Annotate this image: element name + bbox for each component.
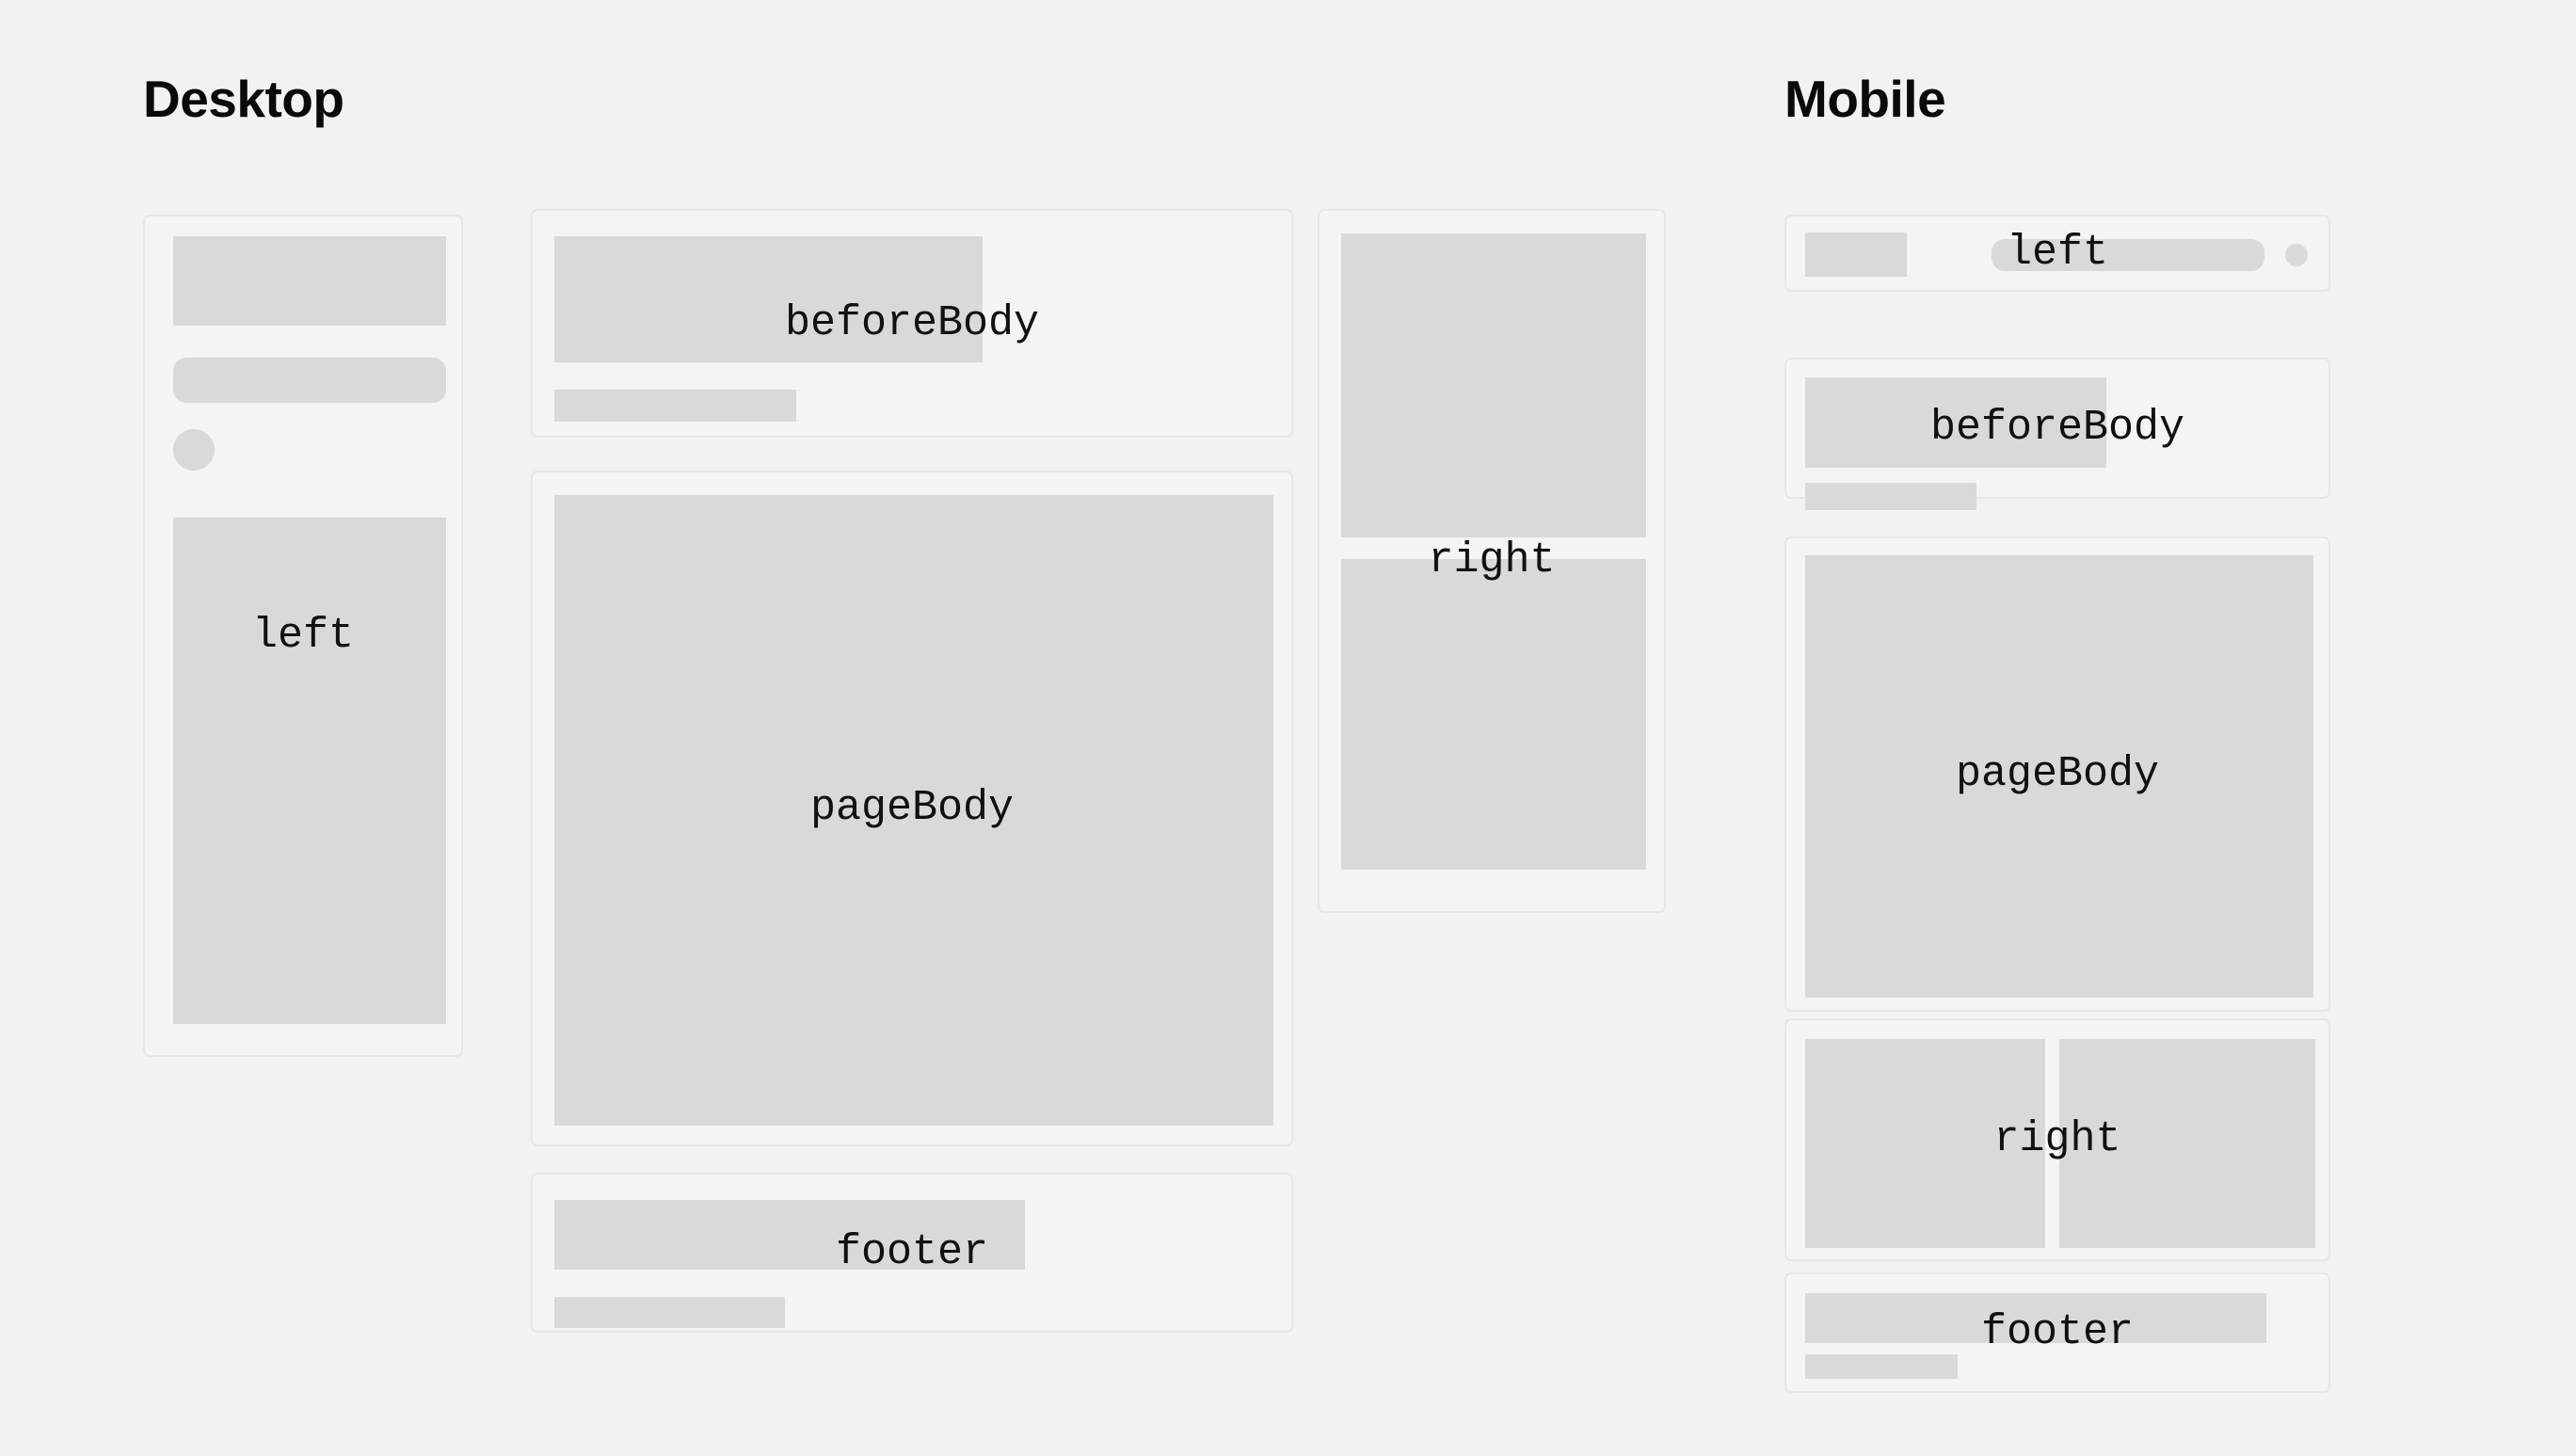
mobile-panel-footer[interactable] <box>1784 1272 2330 1393</box>
section-title-mobile: Mobile <box>1784 73 1945 125</box>
mobile-footer-bar <box>1805 1354 1958 1379</box>
mobile-pagebody-main-rect <box>1805 555 2313 998</box>
desktop-pagebody-main-rect <box>554 495 1273 1126</box>
mobile-footer-rect <box>1805 1293 2266 1343</box>
desktop-left-content-block <box>173 518 446 1024</box>
mobile-panel-beforebody[interactable] <box>1784 358 2330 499</box>
mobile-panel-left[interactable] <box>1784 215 2330 292</box>
desktop-footer-bar <box>554 1297 785 1328</box>
desktop-footer-rect <box>554 1200 1025 1270</box>
desktop-beforebody-hero-rect <box>554 236 983 362</box>
desktop-panel-left[interactable] <box>143 215 463 1057</box>
mobile-beforebody-hero-rect <box>1805 377 2106 468</box>
desktop-panel-pagebody[interactable] <box>531 471 1293 1146</box>
desktop-panel-right[interactable] <box>1318 209 1666 913</box>
desktop-left-header-rect <box>173 236 446 326</box>
mobile-beforebody-caption-bar <box>1805 483 1976 510</box>
mobile-panel-pagebody[interactable] <box>1784 536 2330 1012</box>
layout-preview-canvas: Desktop left beforeBody pageBody footer … <box>0 0 2576 1456</box>
mobile-left-subtitle-bar <box>1992 239 2264 271</box>
desktop-left-subtitle-bar <box>173 358 446 403</box>
desktop-panel-beforebody[interactable] <box>531 209 1293 438</box>
desktop-right-top-rect <box>1341 233 1646 537</box>
desktop-right-bottom-rect <box>1341 559 1646 870</box>
mobile-left-header-rect <box>1805 232 1907 277</box>
mobile-right-left-rect <box>1805 1039 2045 1248</box>
desktop-panel-footer[interactable] <box>531 1173 1293 1333</box>
section-title-desktop: Desktop <box>143 73 344 125</box>
mobile-panel-right[interactable] <box>1784 1018 2330 1261</box>
desktop-beforebody-caption-bar <box>554 390 796 422</box>
desktop-left-avatar-dot <box>173 429 215 471</box>
mobile-left-avatar-dot <box>2285 244 2308 266</box>
mobile-right-right-rect <box>2059 1039 2315 1248</box>
